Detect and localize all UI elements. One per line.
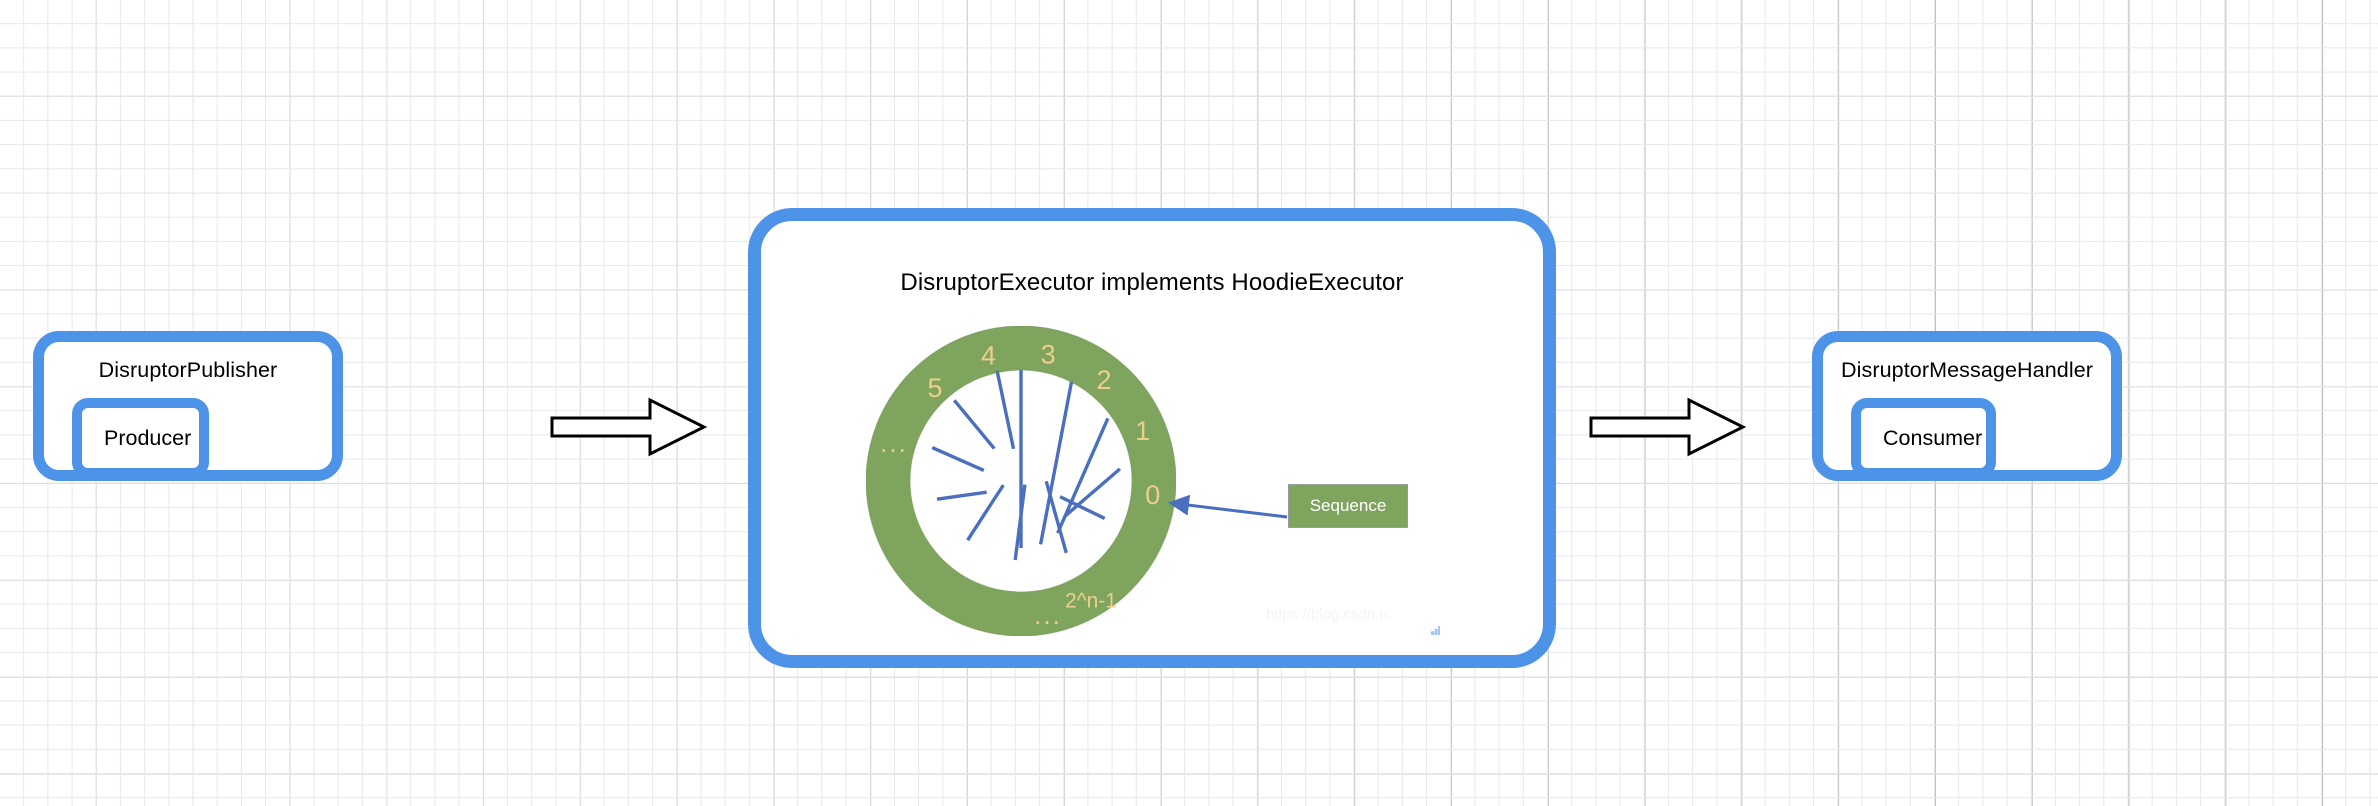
disruptor-executor-title: DisruptorExecutor implements HoodieExecu… — [761, 269, 1543, 297]
disruptor-publisher-title: DisruptorPublisher — [44, 358, 332, 383]
ring-label-4: 4 — [981, 341, 996, 371]
watermark-text: https://blog.csdn.n — [1266, 606, 1388, 623]
disruptor-message-handler-box[interactable]: DisruptorMessageHandler Consumer — [1812, 331, 2122, 481]
disruptor-executor-box[interactable]: DisruptorExecutor implements HoodieExecu… — [748, 208, 1556, 668]
producer-box[interactable]: Producer — [72, 398, 209, 478]
ring-label-5: 5 — [927, 373, 942, 403]
ring-label-2: 2 — [1096, 365, 1111, 395]
sequence-box[interactable]: Sequence — [1288, 484, 1408, 528]
disruptor-publisher-box[interactable]: DisruptorPublisher Producer — [33, 331, 343, 481]
sequence-pointer-arrow — [1161, 495, 1291, 529]
ring-label-dots-left: ... — [880, 428, 908, 458]
disruptor-message-handler-title: DisruptorMessageHandler — [1823, 358, 2111, 383]
ring-buffer: 3 2 1 0 2^n-1 ... 4 5 ... — [866, 326, 1176, 636]
ring-label-2n-1: 2^n-1 — [1065, 590, 1117, 613]
ring-dividers — [932, 370, 1120, 560]
ring-label-1: 1 — [1135, 416, 1150, 446]
ring-label-0: 0 — [1145, 480, 1160, 510]
consumer-box[interactable]: Consumer — [1851, 398, 1996, 478]
ring-label-dots-bottom: ... — [1034, 600, 1062, 630]
diagram-canvas: DisruptorPublisher Producer DisruptorExe… — [0, 0, 2378, 806]
watermark-badge — [1431, 626, 1440, 635]
producer-label: Producer — [82, 426, 191, 451]
consumer-label: Consumer — [1861, 426, 1982, 451]
arrow-publisher-to-executor — [550, 397, 707, 457]
ring-label-3: 3 — [1041, 339, 1056, 369]
arrow-executor-to-handler — [1589, 397, 1746, 457]
sequence-label: Sequence — [1310, 496, 1387, 516]
